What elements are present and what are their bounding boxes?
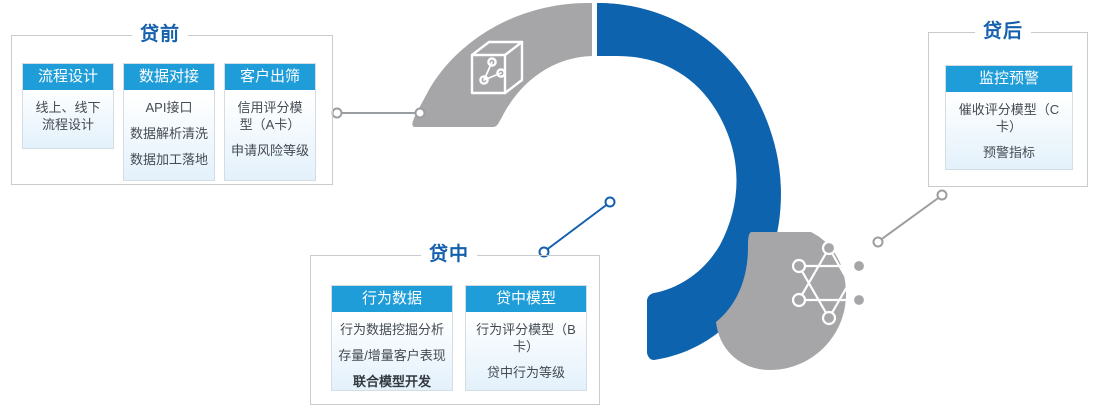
card-body-behavior-data: 行为数据挖掘分析 存量/增量客户表现 联合模型开发 bbox=[332, 312, 452, 391]
arc-segment-pre-loan bbox=[412, 3, 592, 127]
group-post-loan: 贷后 监控预警 催收评分模型（C卡） 预警指标 贷后管理 bbox=[928, 32, 1088, 187]
card-data-integration[interactable]: 数据对接 API接口 数据解析清洗 数据加工落地 bbox=[123, 63, 215, 181]
card-item: 联合模型开发 bbox=[337, 373, 447, 390]
card-item: 行为评分模型（B卡） bbox=[471, 321, 581, 355]
card-process-design[interactable]: 流程设计 线上、线下 流程设计 bbox=[22, 63, 114, 149]
card-item: 预警指标 bbox=[951, 144, 1067, 161]
group-mid-loan: 贷中 行为数据 行为数据挖掘分析 存量/增量客户表现 联合模型开发 贷中模型 行… bbox=[310, 255, 600, 405]
card-header-behavior-data: 行为数据 bbox=[332, 286, 452, 312]
card-item: 申请风险等级 bbox=[230, 142, 310, 159]
arc-segment-post-loan bbox=[716, 232, 846, 370]
card-item: 催收评分模型（C卡） bbox=[951, 101, 1067, 135]
card-item: 信用评分模 型（A卡） bbox=[230, 99, 310, 133]
group-pre-loan: 贷前 流程设计 线上、线下 流程设计 数据对接 API接口 数据解析清洗 数据加… bbox=[11, 35, 333, 185]
card-header-customer-screening: 客户出筛 bbox=[225, 64, 315, 90]
hexagram-network-icon bbox=[781, 242, 877, 338]
card-customer-screening[interactable]: 客户出筛 信用评分模 型（A卡） 申请风险等级 bbox=[224, 63, 316, 181]
group-title-mid-loan: 贷中 bbox=[421, 243, 477, 267]
card-item: 数据加工落地 bbox=[129, 151, 209, 168]
card-mid-loan-model[interactable]: 贷中模型 行为评分模型（B卡） 贷中行为等级 bbox=[465, 285, 587, 391]
card-body-mid-loan-model: 行为评分模型（B卡） 贷中行为等级 bbox=[466, 312, 586, 391]
card-item: 线上、线下 流程设计 bbox=[28, 99, 108, 133]
card-header-process-design: 流程设计 bbox=[23, 64, 113, 90]
card-body-data-integration: API接口 数据解析清洗 数据加工落地 bbox=[124, 90, 214, 180]
linked-panels-icon bbox=[632, 152, 684, 206]
card-item: 行为数据挖掘分析 bbox=[337, 321, 447, 338]
card-header-data-integration: 数据对接 bbox=[124, 64, 214, 90]
connector-line-post-loan bbox=[879, 196, 941, 241]
card-body-customer-screening: 信用评分模 型（A卡） 申请风险等级 bbox=[225, 90, 315, 180]
card-body-process-design: 线上、线下 流程设计 bbox=[23, 90, 113, 148]
group-title-post-loan: 贷后 bbox=[975, 20, 1031, 44]
wireframe-cube-icon bbox=[472, 42, 522, 93]
card-header-monitoring-alert: 监控预警 bbox=[946, 66, 1072, 92]
arc-segment-mid-loan bbox=[597, 3, 781, 322]
connector-line-mid-loan bbox=[545, 203, 609, 251]
card-row-pre-loan: 流程设计 线上、线下 流程设计 数据对接 API接口 数据解析清洗 数据加工落地… bbox=[22, 63, 325, 181]
connector-node-mid-loan-arc bbox=[606, 198, 615, 207]
card-item: API接口 bbox=[129, 99, 209, 116]
card-body-monitoring-alert: 催收评分模型（C卡） 预警指标 贷后管理 bbox=[946, 92, 1072, 170]
connector-node-pre-loan-arc bbox=[416, 109, 425, 118]
card-behavior-data[interactable]: 行为数据 行为数据挖掘分析 存量/增量客户表现 联合模型开发 bbox=[331, 285, 453, 391]
card-row-post-loan: 监控预警 催收评分模型（C卡） 预警指标 贷后管理 bbox=[945, 65, 1073, 170]
arc-segment-mid-loan-lower bbox=[597, 3, 781, 360]
connector-node-pre-loan-box bbox=[333, 109, 342, 118]
card-item: 数据解析清洗 bbox=[129, 125, 209, 142]
connector-node-post-loan-box bbox=[938, 191, 947, 200]
card-row-mid-loan: 行为数据 行为数据挖掘分析 存量/增量客户表现 联合模型开发 贷中模型 行为评分… bbox=[331, 285, 599, 391]
card-item: 贷中行为等级 bbox=[471, 364, 581, 381]
diagram-canvas: 贷前 流程设计 线上、线下 流程设计 数据对接 API接口 数据解析清洗 数据加… bbox=[0, 0, 1100, 414]
connector-node-post-loan-arc bbox=[874, 238, 883, 247]
card-header-mid-loan-model: 贷中模型 bbox=[466, 286, 586, 312]
card-item: 存量/增量客户表现 bbox=[337, 347, 447, 364]
group-title-pre-loan: 贷前 bbox=[132, 23, 188, 47]
card-monitoring-alert[interactable]: 监控预警 催收评分模型（C卡） 预警指标 贷后管理 bbox=[945, 65, 1073, 170]
